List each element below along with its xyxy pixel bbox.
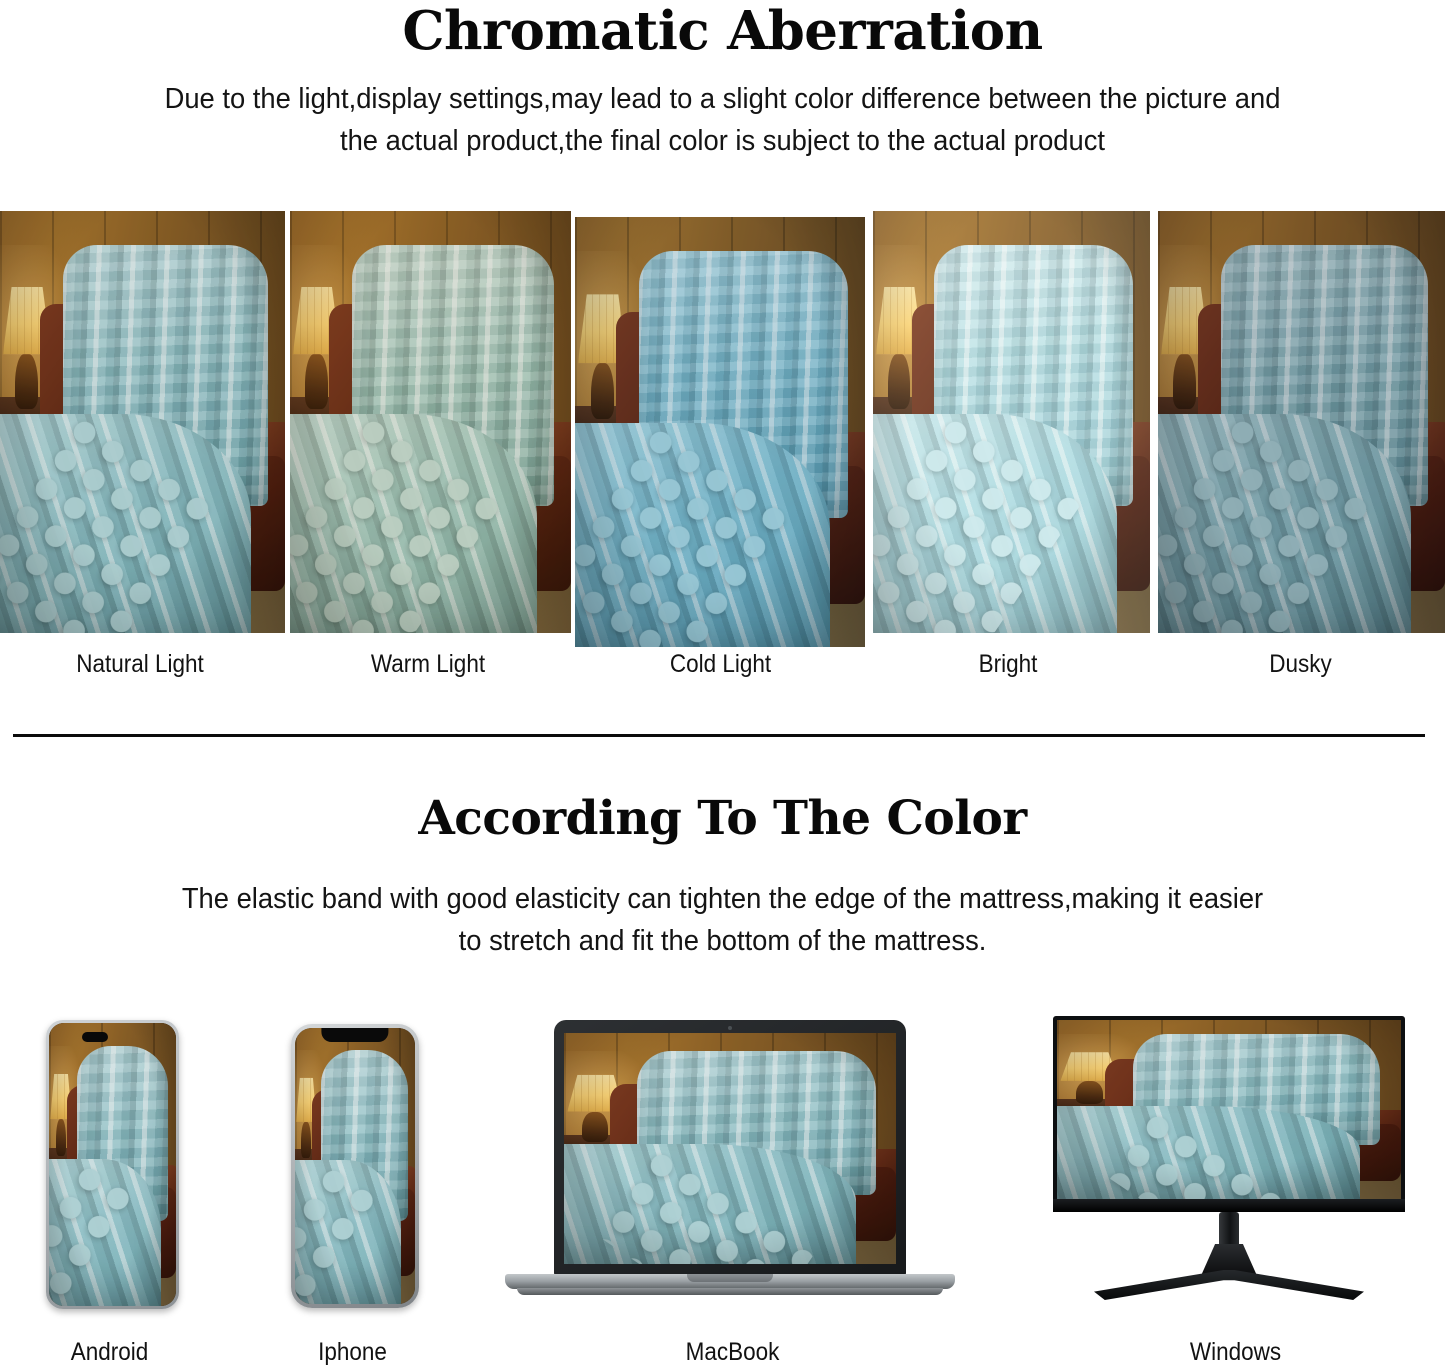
scene-color-tone — [49, 1023, 176, 1306]
caption-dusky: Dusky — [1172, 650, 1429, 679]
scene-color-tone — [575, 217, 865, 647]
product-scene — [49, 1023, 176, 1306]
product-scene — [290, 211, 571, 633]
macbook-lid — [554, 1020, 906, 1276]
caption-iphone: Iphone — [274, 1338, 432, 1367]
caption-windows: Windows — [1157, 1338, 1315, 1367]
lighting-panel-warm-light — [290, 211, 571, 633]
monitor-body — [1053, 1016, 1405, 1212]
device-mockup-macbook — [505, 1020, 955, 1312]
iphone-product-image — [295, 1028, 415, 1304]
page-title-according-to-the-color: According To The Color — [0, 793, 1445, 845]
monitor-screen — [1057, 1020, 1401, 1199]
scene-color-tone — [0, 211, 285, 633]
lighting-panel-natural-light — [0, 211, 285, 633]
caption-android: Android — [31, 1338, 189, 1367]
product-scene — [564, 1033, 896, 1264]
scene-color-tone — [1158, 211, 1445, 633]
macbook-screen — [564, 1033, 896, 1264]
scene-color-tone — [1057, 1020, 1401, 1199]
device-mockup-android — [46, 1020, 179, 1309]
caption-warm-light: Warm Light — [302, 650, 554, 679]
lighting-panel-dusky — [1158, 211, 1445, 633]
scene-color-tone — [290, 211, 571, 633]
scene-color-tone — [295, 1028, 415, 1304]
iphone-notch-icon — [321, 1028, 388, 1042]
description-line-1: Due to the light,display settings,may le… — [87, 78, 1359, 120]
product-scene — [295, 1028, 415, 1304]
android-screen — [49, 1023, 176, 1306]
macbook-webcam-icon — [728, 1026, 732, 1030]
section-divider — [13, 734, 1425, 737]
page-title-chromatic-aberration: Chromatic Aberration — [0, 0, 1445, 60]
monitor-product-image — [1057, 1020, 1401, 1199]
chromatic-aberration-description: Due to the light,display settings,may le… — [87, 78, 1359, 162]
device-mockup-windows-monitor — [1053, 1016, 1405, 1316]
lighting-comparison-strip — [0, 211, 1445, 633]
macbook-base-notch — [687, 1274, 773, 1282]
elastic-band-line-1: The elastic band with good elasticity ca… — [96, 878, 1349, 920]
product-scene — [0, 211, 285, 633]
scene-color-tone — [564, 1033, 896, 1264]
android-product-image — [49, 1023, 176, 1306]
monitor-chin — [1053, 1199, 1405, 1212]
caption-macbook: MacBook — [654, 1338, 812, 1367]
description-line-2: the actual product,the final color is su… — [87, 120, 1359, 162]
according-to-the-color-description: The elastic band with good elasticity ca… — [96, 878, 1349, 962]
caption-natural-light: Natural Light — [14, 650, 266, 679]
caption-cold-light: Cold Light — [592, 650, 849, 679]
lighting-panel-cold-light — [575, 217, 865, 647]
device-mockup-iphone — [291, 1024, 419, 1308]
product-scene — [873, 211, 1150, 633]
scene-color-tone — [873, 211, 1150, 633]
caption-bright: Bright — [882, 650, 1134, 679]
device-mockup-strip — [0, 1008, 1445, 1326]
android-punchhole-camera-icon — [82, 1032, 108, 1042]
elastic-band-line-2: to stretch and fit the bottom of the mat… — [96, 920, 1349, 962]
macbook-foot — [517, 1288, 943, 1295]
product-scene — [1057, 1020, 1401, 1199]
iphone-screen — [295, 1028, 415, 1304]
lighting-panel-bright — [873, 211, 1150, 633]
macbook-product-image — [564, 1033, 896, 1264]
product-scene — [575, 217, 865, 647]
product-scene — [1158, 211, 1445, 633]
monitor-stand-base — [1094, 1270, 1364, 1300]
